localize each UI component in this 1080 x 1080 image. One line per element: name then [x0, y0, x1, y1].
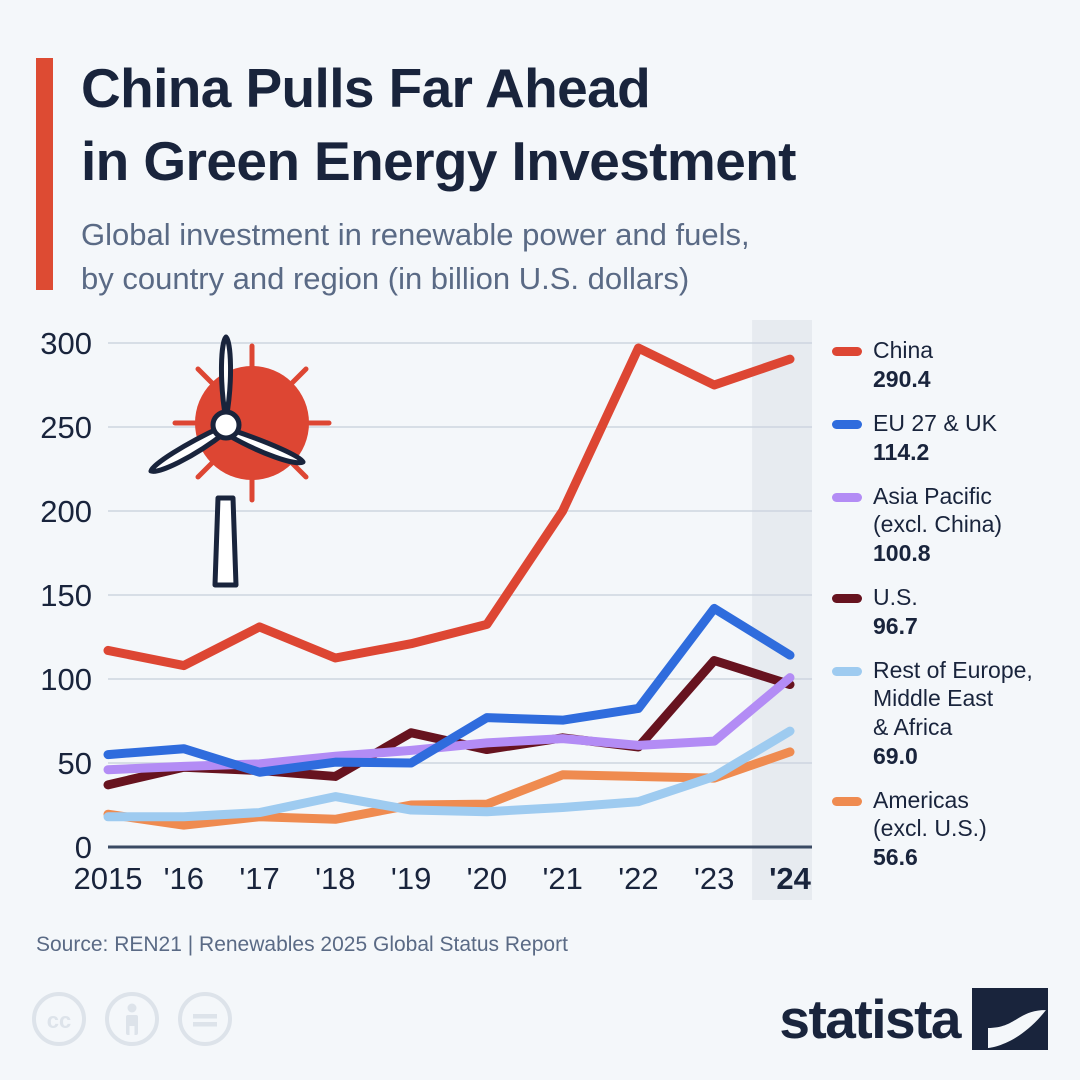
- legend-value: 100.8: [873, 539, 1002, 567]
- y-tick-label: 150: [40, 578, 92, 613]
- wind-turbine-with-sun-illustration: [151, 337, 329, 585]
- no-derivatives-icon: [176, 990, 234, 1048]
- legend-swatch-rest-of-europe: [832, 667, 862, 676]
- y-tick-label: 200: [40, 494, 92, 529]
- x-tick-label: '20: [467, 861, 507, 896]
- legend-item-china[interactable]: China290.4: [832, 336, 1072, 393]
- legend-item-u-s[interactable]: U.S.96.7: [832, 583, 1072, 640]
- page-subtitle: Global investment in renewable power and…: [81, 213, 1036, 301]
- attribution-icon: [103, 990, 161, 1048]
- y-tick-label: 0: [75, 830, 92, 865]
- accent-bar: [36, 58, 53, 290]
- y-tick-label: 300: [40, 326, 92, 361]
- chart-legend: China290.4EU 27 & UK114.2Asia Pacific (e…: [832, 336, 1072, 887]
- legend-value: 96.7: [873, 612, 918, 640]
- x-tick-label: '21: [542, 861, 582, 896]
- statista-wordmark: statista: [779, 992, 960, 1047]
- legend-label: Americas (excl. U.S.): [873, 786, 987, 842]
- x-tick-label: '17: [239, 861, 279, 896]
- legend-text: Rest of Europe, Middle East & Africa69.0: [873, 656, 1033, 769]
- highlight-band: [752, 320, 812, 900]
- legend-text: U.S.96.7: [873, 583, 918, 640]
- header: China Pulls Far Ahead in Green Energy In…: [36, 52, 1036, 301]
- legend-text: Asia Pacific (excl. China)100.8: [873, 482, 1002, 567]
- x-tick-label: 2015: [74, 861, 143, 896]
- svg-text:cc: cc: [47, 1008, 71, 1033]
- legend-value: 290.4: [873, 365, 933, 393]
- legend-swatch-china: [832, 347, 862, 356]
- y-tick-label: 50: [58, 746, 92, 781]
- legend-label: China: [873, 336, 933, 364]
- x-tick-label: '22: [618, 861, 658, 896]
- x-tick-label: '16: [164, 861, 204, 896]
- y-tick-label: 250: [40, 410, 92, 445]
- source-note: Source: REN21 | Renewables 2025 Global S…: [36, 933, 568, 957]
- legend-swatch-u-s: [832, 594, 862, 603]
- x-tick-label: '24: [769, 861, 812, 896]
- legend-text: China290.4: [873, 336, 933, 393]
- legend-label: EU 27 & UK: [873, 409, 997, 437]
- legend-swatch-asia-pacific: [832, 493, 862, 502]
- legend-label: Asia Pacific (excl. China): [873, 482, 1002, 538]
- x-axis-tick-labels: 2015'16'17'18'19'20'21'22'23'24: [74, 861, 812, 896]
- statista-logo: statista: [779, 988, 1048, 1050]
- page-title: China Pulls Far Ahead in Green Energy In…: [81, 52, 1036, 197]
- legend-item-asia-pacific[interactable]: Asia Pacific (excl. China)100.8: [832, 482, 1072, 567]
- x-tick-label: '18: [315, 861, 355, 896]
- legend-text: Americas (excl. U.S.)56.6: [873, 786, 987, 871]
- legend-text: EU 27 & UK114.2: [873, 409, 997, 466]
- legend-item-rest-of-europe[interactable]: Rest of Europe, Middle East & Africa69.0: [832, 656, 1072, 769]
- legend-value: 56.6: [873, 843, 987, 871]
- statista-logo-mark: [972, 988, 1048, 1050]
- legend-item-eu-27-uk[interactable]: EU 27 & UK114.2: [832, 409, 1072, 466]
- legend-value: 114.2: [873, 438, 997, 466]
- title-block: China Pulls Far Ahead in Green Energy In…: [81, 52, 1036, 301]
- legend-label: Rest of Europe, Middle East & Africa: [873, 656, 1033, 740]
- y-axis-tick-labels: 050100150200250300: [40, 326, 92, 865]
- legend-item-americas[interactable]: Americas (excl. U.S.)56.6: [832, 786, 1072, 871]
- legend-swatch-americas: [832, 797, 862, 806]
- legend-label: U.S.: [873, 583, 918, 611]
- x-tick-label: '19: [391, 861, 431, 896]
- legend-value: 69.0: [873, 742, 1033, 770]
- creative-commons-icon: cc: [30, 990, 88, 1048]
- x-tick-label: '23: [694, 861, 734, 896]
- y-tick-label: 100: [40, 662, 92, 697]
- license-icons: cc: [30, 990, 234, 1048]
- legend-swatch-eu-27-uk: [832, 420, 862, 429]
